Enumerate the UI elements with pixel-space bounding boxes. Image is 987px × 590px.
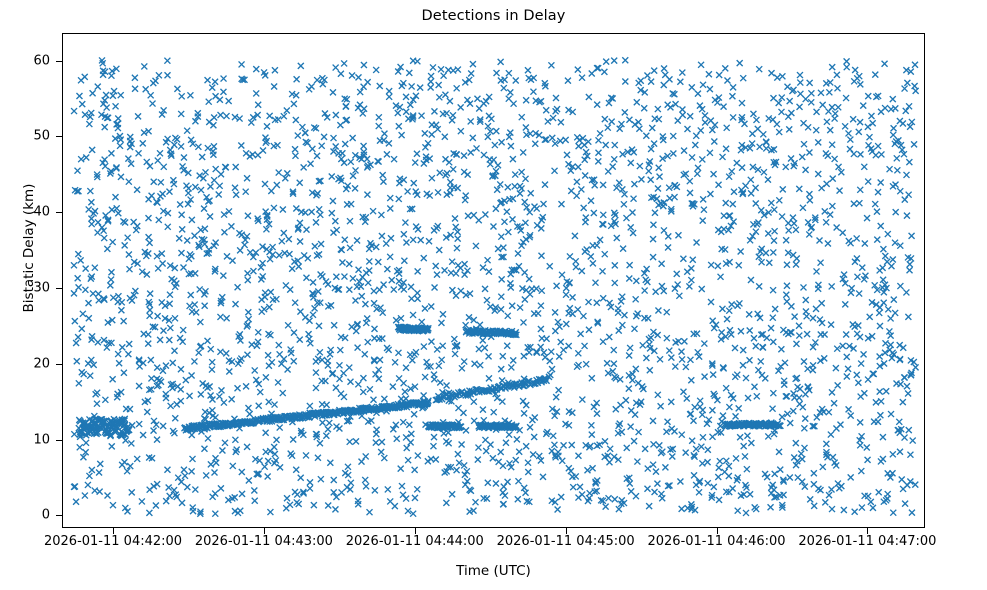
- y-axis-tick-mark: [56, 288, 62, 289]
- y-axis-tick-mark: [56, 61, 62, 62]
- x-axis-tick-mark: [717, 528, 718, 534]
- x-axis-tick-label: 2026-01-11 04:44:00: [346, 534, 484, 549]
- y-axis-tick-mark: [56, 136, 62, 137]
- plot-area: [62, 33, 925, 528]
- y-axis-tick-mark: [56, 515, 62, 516]
- y-axis-tick-mark: [56, 364, 62, 365]
- y-axis-tick-label: 10: [33, 432, 50, 447]
- x-axis-tick-label: 2026-01-11 04:47:00: [798, 534, 936, 549]
- y-axis-tick-label: 0: [42, 508, 50, 523]
- scatter-canvas: [63, 34, 925, 528]
- y-axis-tick-mark: [56, 440, 62, 441]
- x-axis-tick-label: 2026-01-11 04:45:00: [497, 534, 635, 549]
- x-axis-tick-mark: [415, 528, 416, 534]
- y-axis-title: Bistatic Delay (km): [21, 98, 37, 398]
- matplotlib-figure: Detections in Delay 0102030405060 2026-0…: [0, 0, 987, 590]
- x-axis-tick-label: 2026-01-11 04:46:00: [647, 534, 785, 549]
- y-axis-tick-mark: [56, 212, 62, 213]
- x-axis-tick-label: 2026-01-11 04:43:00: [195, 534, 333, 549]
- y-axis-tick-label: 60: [33, 53, 50, 68]
- x-axis-tick-mark: [264, 528, 265, 534]
- x-axis-tick-mark: [867, 528, 868, 534]
- x-axis-tick-mark: [566, 528, 567, 534]
- page-title: Detections in Delay: [0, 8, 987, 24]
- x-axis-tick-mark: [113, 528, 114, 534]
- x-axis-title: Time (UTC): [0, 563, 987, 579]
- x-axis-tick-label: 2026-01-11 04:42:00: [44, 534, 182, 549]
